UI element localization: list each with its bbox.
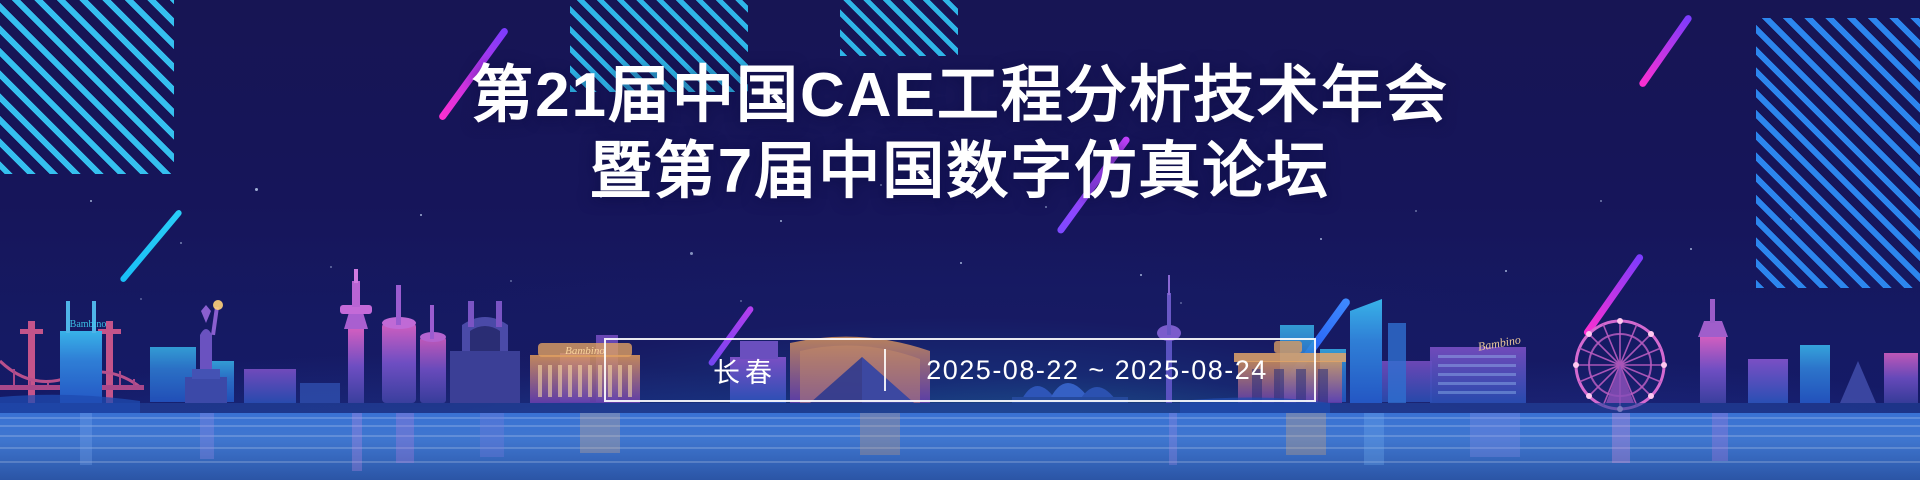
banner-title: 第21届中国CAE工程分析技术年会 暨第7届中国数字仿真论坛 bbox=[0, 58, 1920, 210]
svg-text:Bambino: Bambino bbox=[70, 319, 107, 330]
event-date-range: 2025-08-22 ~ 2025-08-24 bbox=[886, 355, 1314, 386]
event-city: 长春 bbox=[606, 351, 884, 390]
arch-gateway bbox=[450, 301, 520, 403]
event-info-box: 长春 2025-08-22 ~ 2025-08-24 bbox=[604, 338, 1316, 402]
cylinder-towers bbox=[382, 285, 446, 403]
svg-text:Bambino: Bambino bbox=[565, 345, 605, 357]
far-right-towers bbox=[1698, 299, 1918, 403]
title-line-2: 暨第7届中国数字仿真论坛 bbox=[0, 134, 1920, 210]
title-line-1: 第21届中国CAE工程分析技术年会 bbox=[0, 58, 1920, 134]
glass-towers-right: Bambino bbox=[1350, 299, 1526, 403]
ferris-wheel bbox=[1573, 318, 1667, 412]
stratosphere-tower bbox=[340, 269, 372, 403]
striped-circle-top-center-small-decor bbox=[840, 0, 958, 56]
conference-banner: Bambino bbox=[0, 0, 1920, 480]
